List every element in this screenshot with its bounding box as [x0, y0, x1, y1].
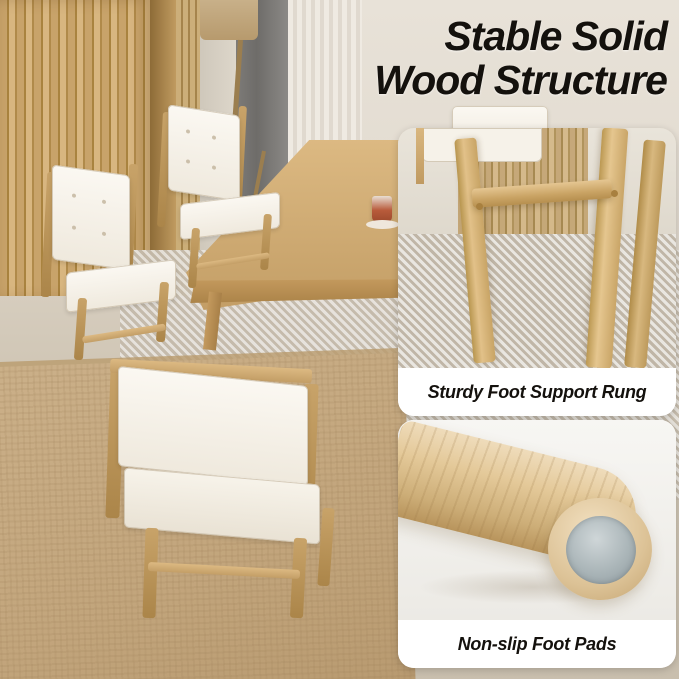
inset-non-slip-foot-pads: Non-slip Foot Pads [398, 420, 676, 668]
chair-leg [142, 528, 158, 618]
chair-backrest-cushion [118, 366, 308, 486]
product-feature-image: Stable Solid Wood Structure Sturdy Foot … [0, 0, 679, 679]
inset-joint-screw [611, 190, 618, 197]
inset-non-slip-foot-pads-photo [398, 420, 676, 620]
coffee-cup-saucer [366, 220, 399, 229]
chair-left [30, 170, 180, 360]
headline: Stable Solid Wood Structure [267, 14, 667, 103]
inset-foot-support-rung-photo [398, 128, 676, 368]
inset-caption-foot-support-rung: Sturdy Foot Support Rung [398, 368, 676, 416]
inset-foot-support-rung: Sturdy Foot Support Rung [398, 128, 676, 416]
inset-chair-post [416, 128, 424, 184]
headline-line-2: Wood Structure [267, 58, 667, 102]
coffee-cup [372, 196, 392, 222]
inset-chair-backrest [422, 128, 542, 162]
chair-foot-support-rung [196, 252, 270, 270]
chair-front [96, 358, 356, 618]
headline-line-1: Stable Solid [267, 14, 667, 58]
inset-joint-screw [476, 203, 483, 210]
floor-lamp-shade [200, 0, 258, 40]
inset-caption-non-slip-foot-pads: Non-slip Foot Pads [398, 620, 676, 668]
chair-foot-support-rung [148, 562, 300, 579]
chair-backrest-cushion [52, 165, 130, 271]
chair-foot-support-rung [82, 323, 166, 343]
